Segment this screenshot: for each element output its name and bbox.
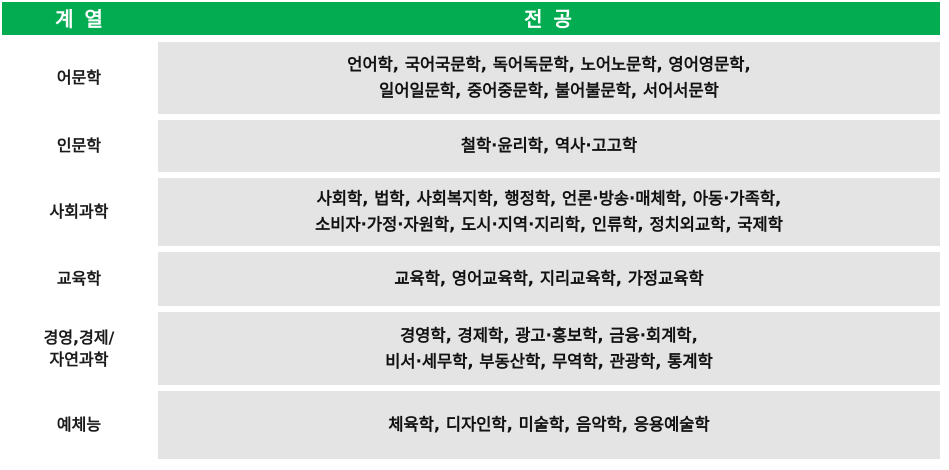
series-label: 인문학 <box>57 135 101 157</box>
major-line: 일어일문학, 중어중문학, 불어불문학, 서어서문학 <box>379 78 719 104</box>
cell-series: 경영,경제/자연과학 <box>0 312 158 385</box>
cell-majors: 사회학, 법학, 사회복지학, 행정학, 언론·방송·매체학, 아동·가족학,소… <box>158 178 940 246</box>
cell-majors: 언어학, 국어국문학, 독어독문학, 노어노문학, 영어영문학,일어일문학, 중… <box>158 42 940 114</box>
cell-series: 예체능 <box>0 391 158 459</box>
table-row: 어문학언어학, 국어국문학, 독어독문학, 노어노문학, 영어영문학,일어일문학… <box>0 42 949 114</box>
table-row: 예체능체육학, 디자인학, 미술학, 음악학, 응용예술학 <box>0 391 949 459</box>
series-label-line: 자연과학 <box>44 349 115 371</box>
table-row: 사회과학사회학, 법학, 사회복지학, 행정학, 언론·방송·매체학, 아동·가… <box>0 178 949 246</box>
series-label: 어문학 <box>57 67 101 89</box>
series-label-line: 교육학 <box>57 268 101 290</box>
cell-majors: 체육학, 디자인학, 미술학, 음악학, 응용예술학 <box>158 391 940 459</box>
series-label: 사회과학 <box>50 201 109 223</box>
header-cell-major: 전 공 <box>158 2 940 35</box>
series-label: 교육학 <box>57 268 101 290</box>
major-line: 체육학, 디자인학, 미술학, 음악학, 응용예술학 <box>388 412 709 438</box>
table-row: 경영,경제/자연과학경영학, 경제학, 광고·홍보학, 금융·회계학,비서·세무… <box>0 312 949 385</box>
major-classification-table: 계 열 전 공 어문학언어학, 국어국문학, 독어독문학, 노어노문학, 영어영… <box>0 2 949 470</box>
major-line: 철학·윤리학, 역사·고고학 <box>461 133 637 159</box>
major-line: 사회학, 법학, 사회복지학, 행정학, 언론·방송·매체학, 아동·가족학, <box>317 186 782 212</box>
series-label-line: 예체능 <box>57 414 101 436</box>
cell-series: 어문학 <box>0 42 158 114</box>
major-line: 비서·세무학, 부동산학, 무역학, 관광학, 통계학 <box>385 349 713 375</box>
cell-series: 교육학 <box>0 252 158 306</box>
cell-series: 사회과학 <box>0 178 158 246</box>
series-label-line: 어문학 <box>57 67 101 89</box>
series-label: 경영,경제/자연과학 <box>44 327 115 370</box>
header-cell-series: 계 열 <box>2 2 158 35</box>
major-line: 언어학, 국어국문학, 독어독문학, 노어노문학, 영어영문학, <box>347 52 750 78</box>
series-label-line: 인문학 <box>57 135 101 157</box>
series-label-line: 경영,경제/ <box>44 327 115 349</box>
table-header-row: 계 열 전 공 <box>2 2 940 35</box>
cell-majors: 경영학, 경제학, 광고·홍보학, 금융·회계학,비서·세무학, 부동산학, 무… <box>158 312 940 385</box>
table-row: 인문학철학·윤리학, 역사·고고학 <box>0 120 949 172</box>
series-label-line: 사회과학 <box>50 201 109 223</box>
cell-majors: 교육학, 영어교육학, 지리교육학, 가정교육학 <box>158 252 940 306</box>
table-body: 어문학언어학, 국어국문학, 독어독문학, 노어노문학, 영어영문학,일어일문학… <box>0 35 949 459</box>
major-line: 경영학, 경제학, 광고·홍보학, 금융·회계학, <box>400 323 698 349</box>
series-label: 예체능 <box>57 414 101 436</box>
major-line: 교육학, 영어교육학, 지리교육학, 가정교육학 <box>394 266 703 292</box>
table-row: 교육학교육학, 영어교육학, 지리교육학, 가정교육학 <box>0 252 949 306</box>
cell-majors: 철학·윤리학, 역사·고고학 <box>158 120 940 172</box>
major-line: 소비자·가정·자원학, 도시·지역·지리학, 인류학, 정치외교학, 국제학 <box>315 212 783 238</box>
cell-series: 인문학 <box>0 120 158 172</box>
